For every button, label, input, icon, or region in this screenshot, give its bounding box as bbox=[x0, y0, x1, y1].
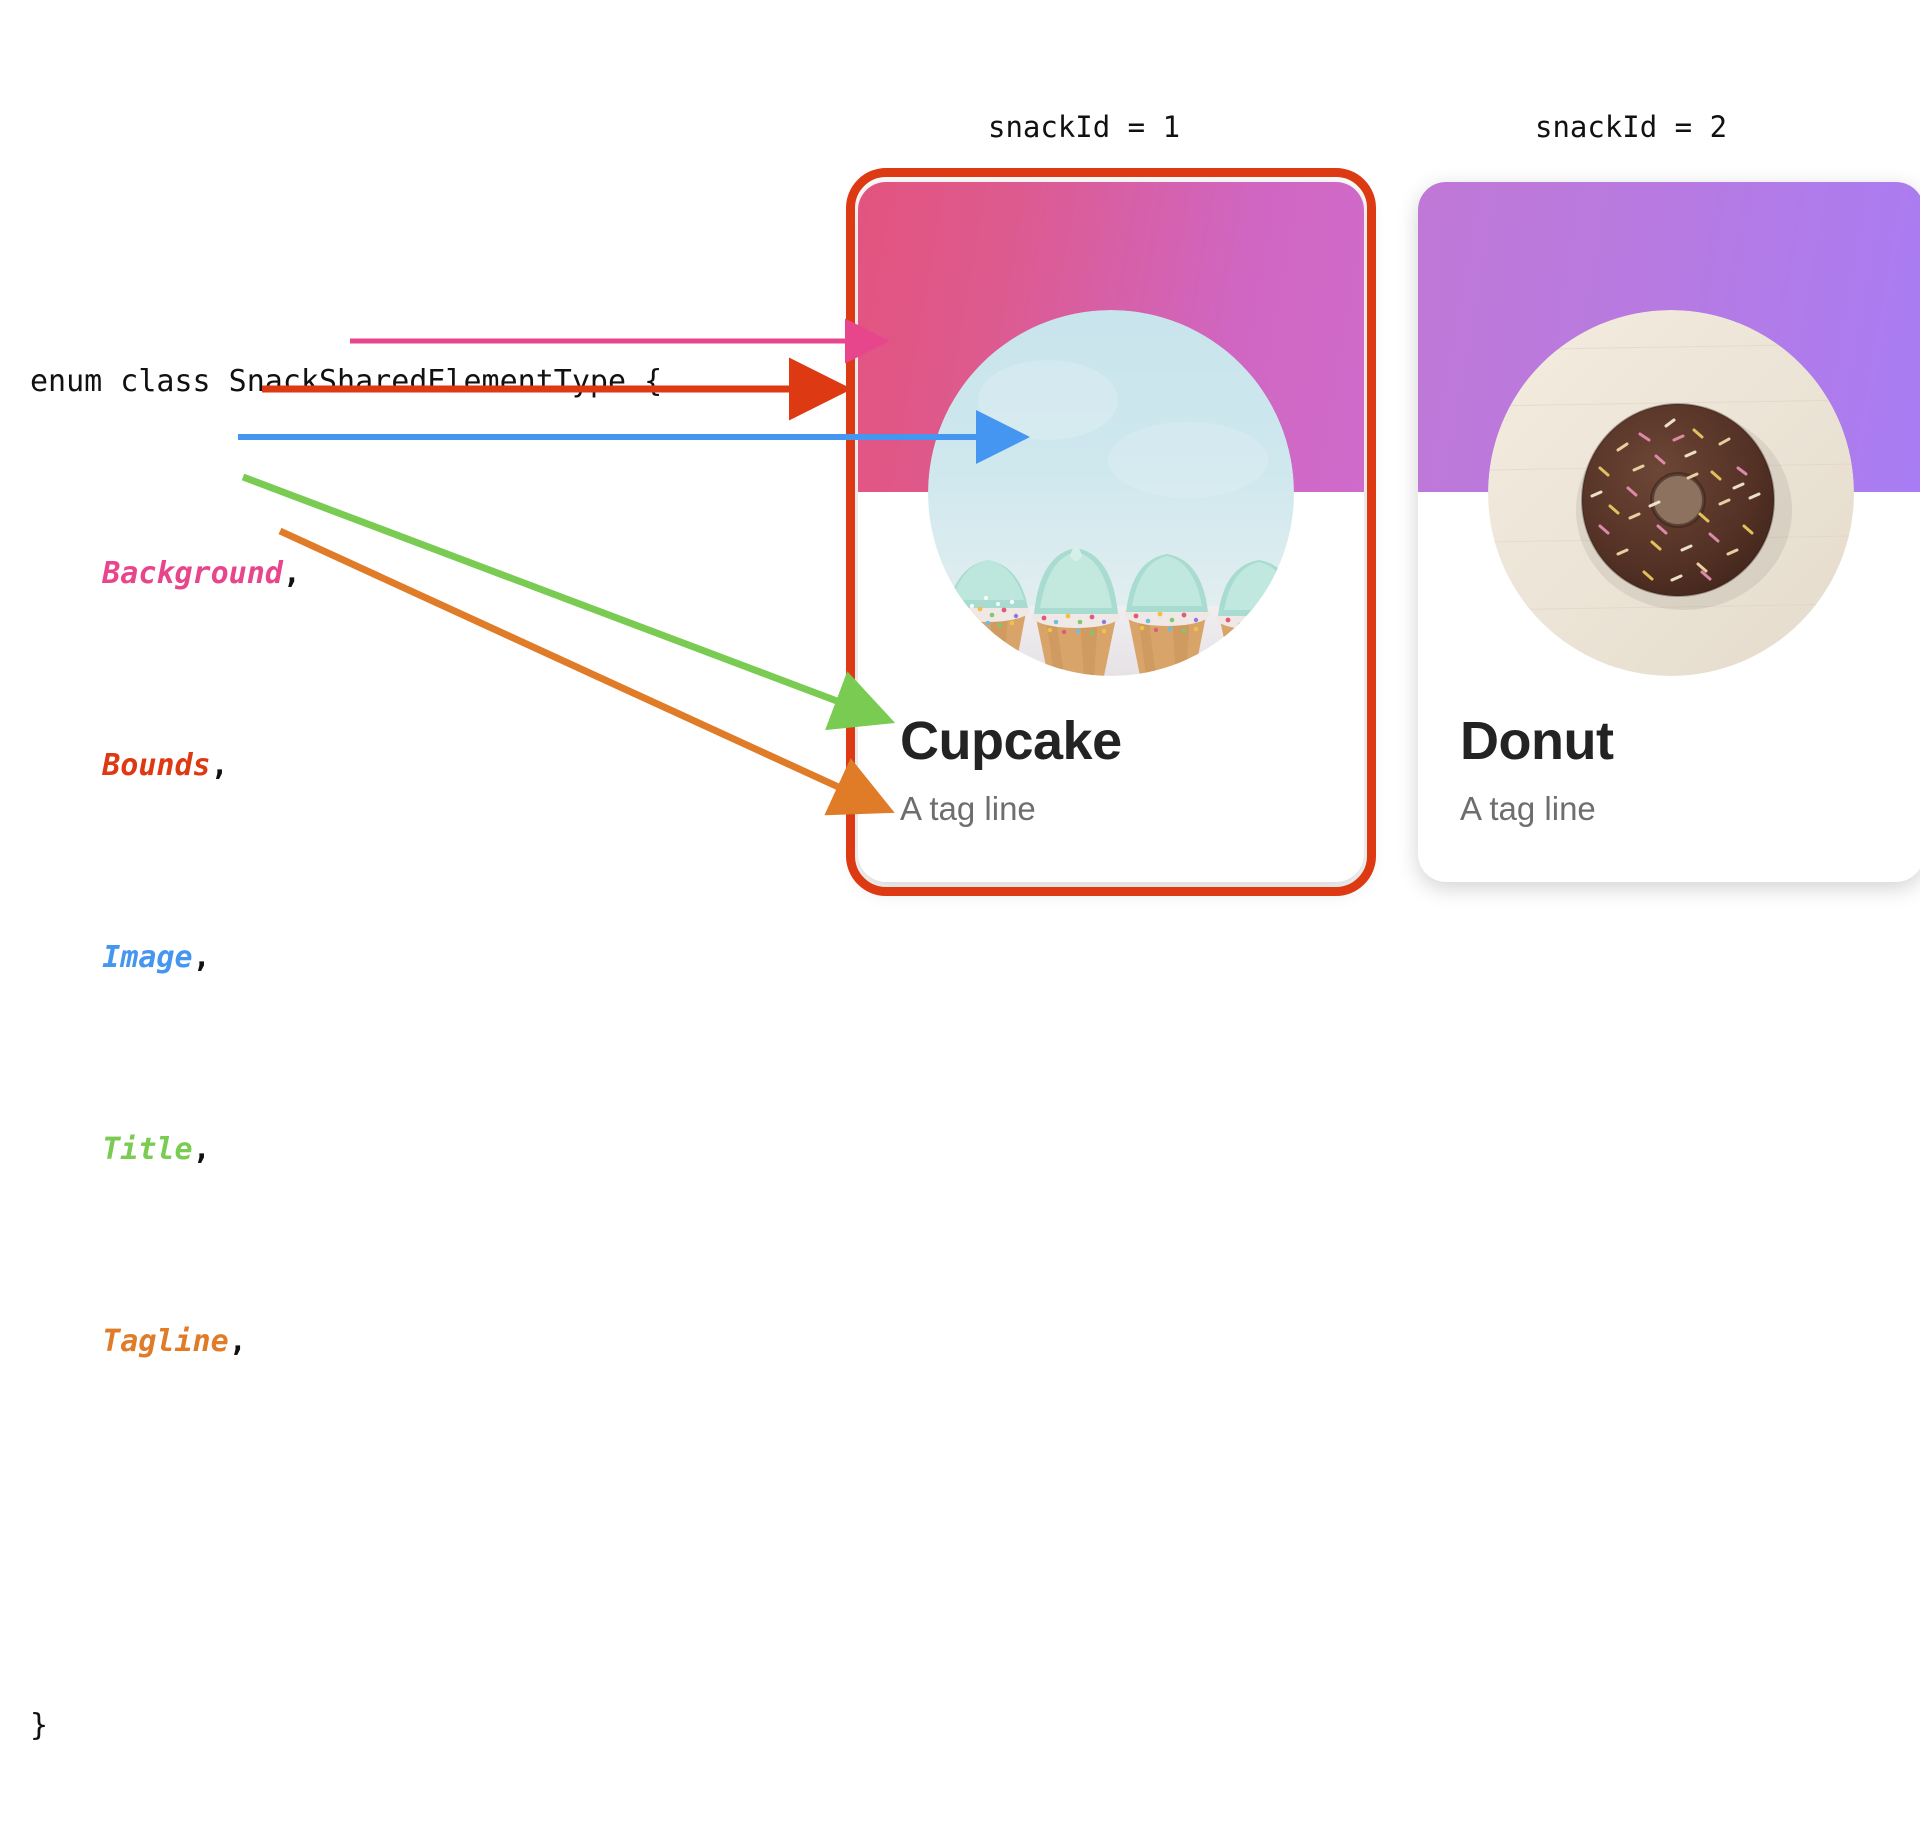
card-title-cupcake: Cupcake bbox=[900, 710, 1122, 772]
diagram-canvas: enum class SnackSharedElementType { Back… bbox=[0, 0, 1920, 1080]
code-line-member-bounds: Bounds, bbox=[30, 742, 662, 790]
code-line-closing-brace: } bbox=[30, 1702, 662, 1750]
comma-image: , bbox=[193, 940, 211, 975]
enum-member-image: Image bbox=[102, 940, 192, 975]
snack-id-header-2: snackId = 2 bbox=[1535, 110, 1727, 144]
donut-photo-illustration bbox=[1488, 310, 1854, 676]
code-line-member-image: Image, bbox=[30, 934, 662, 982]
comma-title: , bbox=[193, 1132, 211, 1167]
code-line-blank bbox=[30, 1510, 662, 1558]
comma-bounds: , bbox=[211, 748, 229, 783]
comma-tagline: , bbox=[229, 1324, 247, 1359]
enum-member-bounds: Bounds bbox=[102, 748, 210, 783]
code-line-declaration: enum class SnackSharedElementType { bbox=[30, 358, 662, 406]
enum-member-title: Title bbox=[102, 1132, 192, 1167]
enum-member-tagline: Tagline bbox=[102, 1324, 228, 1359]
card-title-donut: Donut bbox=[1460, 710, 1613, 772]
snack-id-header-1: snackId = 1 bbox=[988, 110, 1180, 144]
comma-background: , bbox=[283, 556, 301, 591]
snack-card-donut[interactable]: Donut A tag line bbox=[1418, 182, 1920, 882]
card-tagline-donut: A tag line bbox=[1460, 790, 1596, 828]
cupcake-photo-illustration bbox=[928, 310, 1294, 676]
card-image-cupcake bbox=[928, 310, 1294, 676]
enum-declaration-text: enum class SnackSharedElementType { bbox=[30, 364, 662, 399]
snack-card-cupcake[interactable]: Cupcake A tag line bbox=[858, 182, 1364, 882]
code-line-member-tagline: Tagline, bbox=[30, 1318, 662, 1366]
code-line-member-background: Background, bbox=[30, 550, 662, 598]
card-tagline-cupcake: A tag line bbox=[900, 790, 1036, 828]
code-block: enum class SnackSharedElementType { Back… bbox=[30, 262, 662, 1846]
closing-brace-text: } bbox=[30, 1708, 48, 1743]
code-line-member-title: Title, bbox=[30, 1126, 662, 1174]
enum-member-background: Background bbox=[102, 556, 283, 591]
card-image-donut bbox=[1488, 310, 1854, 676]
